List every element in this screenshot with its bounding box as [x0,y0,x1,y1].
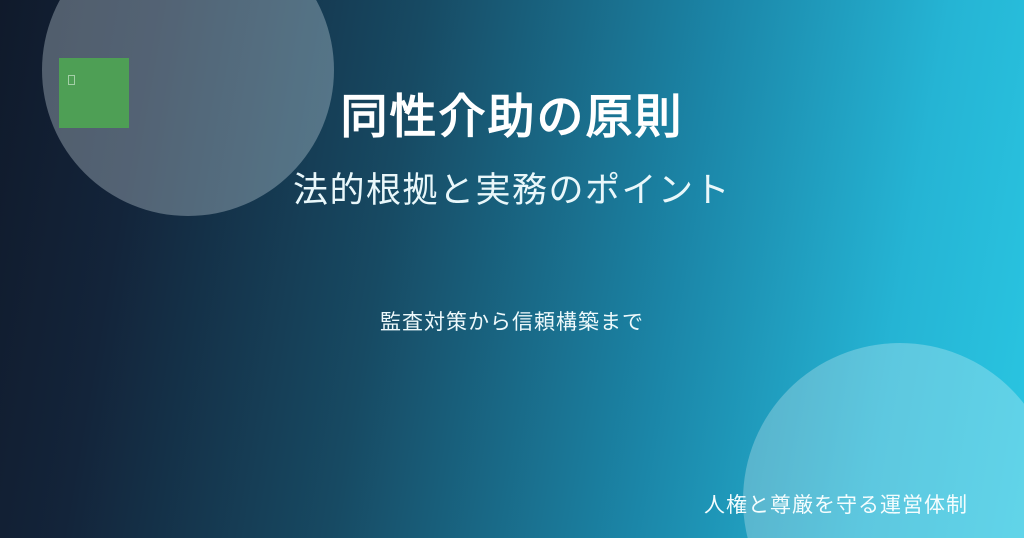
presentation-slide: 同性介助の原則 法的根拠と実務のポイント 監査対策から信頼構築まで 人権と尊厳を… [0,0,1024,538]
slide-footnote: 人権と尊厳を守る運営体制 [704,489,968,519]
slide-subtitle: 法的根拠と実務のポイント [0,169,1024,213]
slide-title: 同性介助の原則 [0,89,1024,145]
slide-tagline: 監査対策から信頼構築まで [0,306,1024,336]
missing-glyph-icon [68,75,75,85]
